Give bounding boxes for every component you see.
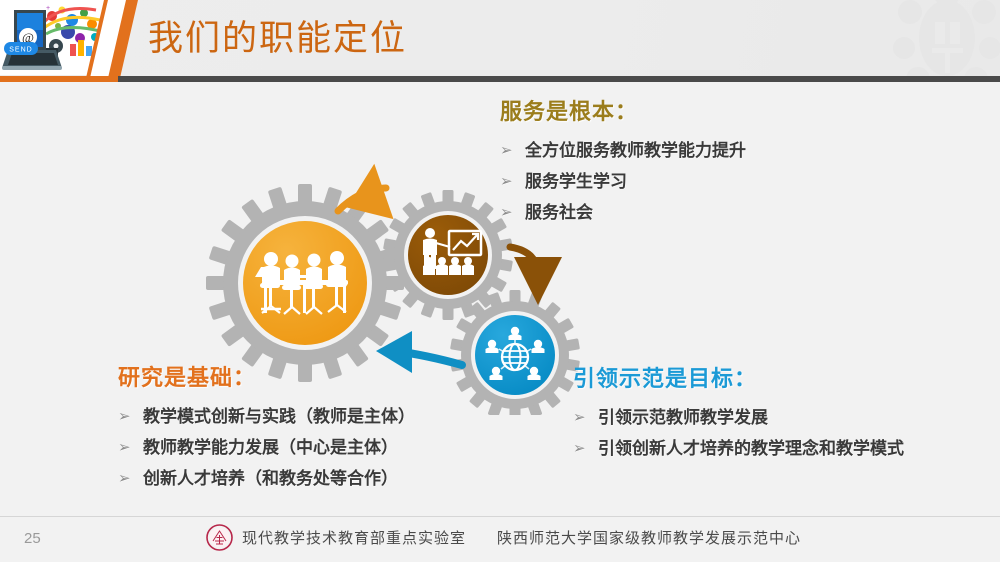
footer-lab-name: 现代教学技术教育部重点实验室: [242, 527, 466, 548]
block-service-title: 服务是根本：: [500, 94, 746, 126]
block-research: 研究是基础： ➢ 教学模式创新与实践（教师是主体） ➢ 教师教学能力发展（中心是…: [118, 360, 415, 494]
list-item-label: 服务社会: [525, 197, 593, 228]
list-item-label: 教师教学能力发展（中心是主体）: [143, 432, 398, 463]
bullet-arrow-icon: ➢: [500, 135, 525, 166]
list-item: ➢ 服务社会: [500, 197, 746, 228]
block-research-title: 研究是基础：: [118, 360, 415, 392]
list-item: ➢ 创新人才培养（和教务处等合作）: [118, 463, 415, 494]
header-bottom-rule-accent: [0, 76, 118, 82]
block-research-list: ➢ 教学模式创新与实践（教师是主体） ➢ 教师教学能力发展（中心是主体） ➢ 创…: [118, 401, 415, 494]
footer-branding: 现代教学技术教育部重点实验室 陕西师范大学国家级教师教学发展示范中心: [206, 524, 801, 551]
block-lead-title: 引领示范是目标：: [573, 361, 904, 393]
bullet-arrow-icon: ➢: [573, 433, 598, 464]
bullet-arrow-icon: ➢: [573, 402, 598, 433]
list-item-label: 引领创新人才培养的教学理念和教学模式: [598, 433, 904, 464]
bullet-arrow-icon: ➢: [500, 197, 525, 228]
list-item-label: 全方位服务教师教学能力提升: [525, 135, 746, 166]
slide-footer: 25 现代教学技术教育部重点实验室 陕西师范大学国家级教师教学发展示范中心: [0, 517, 1000, 562]
list-item-label: 引领示范教师教学发展: [598, 402, 768, 433]
bullet-arrow-icon: ➢: [118, 401, 143, 432]
svg-text:SEND: SEND: [9, 47, 32, 54]
list-item-label: 服务学生学习: [525, 166, 627, 197]
page-title: 我们的职能定位: [148, 16, 407, 62]
list-item-label: 创新人才培养（和教务处等合作）: [143, 463, 398, 494]
bullet-arrow-icon: ➢: [500, 166, 525, 197]
footer-center-name: 陕西师范大学国家级教师教学发展示范中心: [497, 527, 801, 548]
block-service: 服务是根本： ➢ 全方位服务教师教学能力提升 ➢ 服务学生学习 ➢ 服务社会: [500, 94, 746, 228]
bullet-arrow-icon: ➢: [118, 432, 143, 463]
curved-arrow-up-icon: [338, 160, 405, 219]
university-red-seal-icon: [206, 524, 233, 551]
list-item: ➢ 全方位服务教师教学能力提升: [500, 135, 746, 166]
slide-header: + + @ SEND: [0, 0, 1000, 82]
svg-text:+: +: [46, 5, 50, 12]
list-item: ➢ 引领示范教师教学发展: [573, 402, 904, 433]
block-lead-list: ➢ 引领示范教师教学发展 ➢ 引领创新人才培养的教学理念和教学模式: [573, 402, 904, 464]
list-item: ➢ 服务学生学习: [500, 166, 746, 197]
list-item: ➢ 引领创新人才培养的教学理念和教学模式: [573, 433, 904, 464]
bullet-arrow-icon: ➢: [118, 463, 143, 494]
slide: + + @ SEND: [0, 0, 1000, 562]
list-item-label: 教学模式创新与实践（教师是主体）: [143, 401, 415, 432]
page-number: 25: [24, 530, 41, 547]
block-service-list: ➢ 全方位服务教师教学能力提升 ➢ 服务学生学习 ➢ 服务社会: [500, 135, 746, 228]
list-item: ➢ 教师教学能力发展（中心是主体）: [118, 432, 415, 463]
list-item: ➢ 教学模式创新与实践（教师是主体）: [118, 401, 415, 432]
block-lead: 引领示范是目标： ➢ 引领示范教师教学发展 ➢ 引领创新人才培养的教学理念和教学…: [573, 361, 904, 464]
header-bottom-rule: [0, 76, 1000, 82]
university-seal-watermark-icon: [888, 0, 1000, 82]
